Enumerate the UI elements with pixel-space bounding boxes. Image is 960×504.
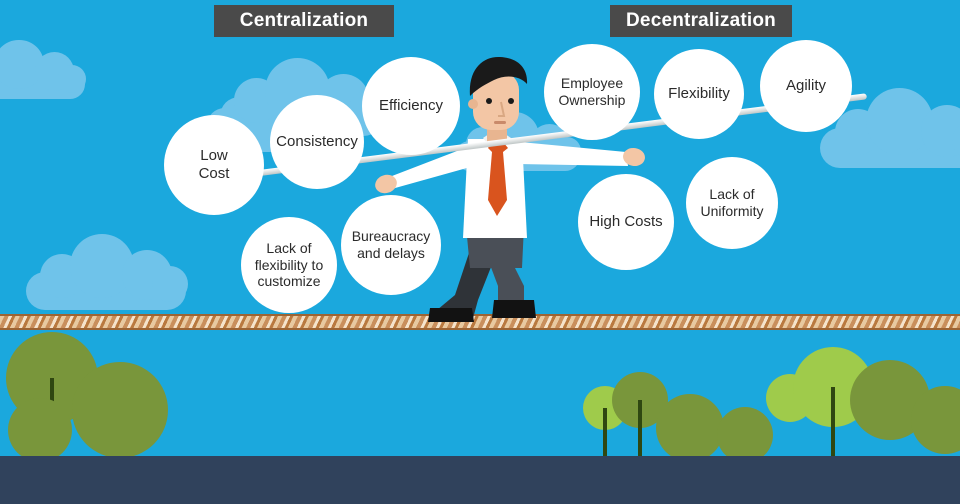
infographic-canvas: LowCostConsistencyEfficiencyLack offlexi… <box>0 0 960 504</box>
bubble-consistency[interactable]: Consistency <box>270 95 364 189</box>
bubble-label: Lack offlexibility tocustomize <box>255 240 323 290</box>
bubble-bureaucracy[interactable]: Bureaucracyand delays <box>341 195 441 295</box>
ear <box>468 99 478 109</box>
header-decentralization: Decentralization <box>610 5 792 37</box>
bubble-lack-of-uniformity[interactable]: Lack ofUniformity <box>686 157 778 249</box>
back-shoe <box>428 308 474 322</box>
bubble-label: Agility <box>786 77 826 95</box>
bubble-label: LowCost <box>199 147 230 182</box>
header-label: Centralization <box>240 10 368 32</box>
left-eye <box>486 98 492 104</box>
header-label: Decentralization <box>626 10 776 32</box>
bubble-employee-ownership[interactable]: EmployeeOwnership <box>544 44 640 140</box>
right-eye <box>508 98 514 104</box>
bubble-label: Flexibility <box>668 85 730 103</box>
bubble-high-costs[interactable]: High Costs <box>578 174 674 270</box>
bubble-efficiency[interactable]: Efficiency <box>362 57 460 155</box>
bubble-agility[interactable]: Agility <box>760 40 852 132</box>
bubble-flexibility[interactable]: Flexibility <box>654 49 744 139</box>
mouth <box>494 121 506 124</box>
bubble-lack-of-flexibility[interactable]: Lack offlexibility tocustomize <box>241 217 337 313</box>
header-centralization: Centralization <box>214 5 394 37</box>
bubble-label: Consistency <box>276 133 358 151</box>
bubble-label: High Costs <box>589 213 662 231</box>
front-shoe <box>492 300 536 318</box>
bubble-low-cost[interactable]: LowCost <box>164 115 264 215</box>
bubble-label: Lack ofUniformity <box>700 186 763 219</box>
bubble-label: Bureaucracyand delays <box>352 228 431 261</box>
bubble-label: Efficiency <box>379 97 443 115</box>
right-arm <box>518 142 628 166</box>
bubble-label: EmployeeOwnership <box>559 75 626 108</box>
